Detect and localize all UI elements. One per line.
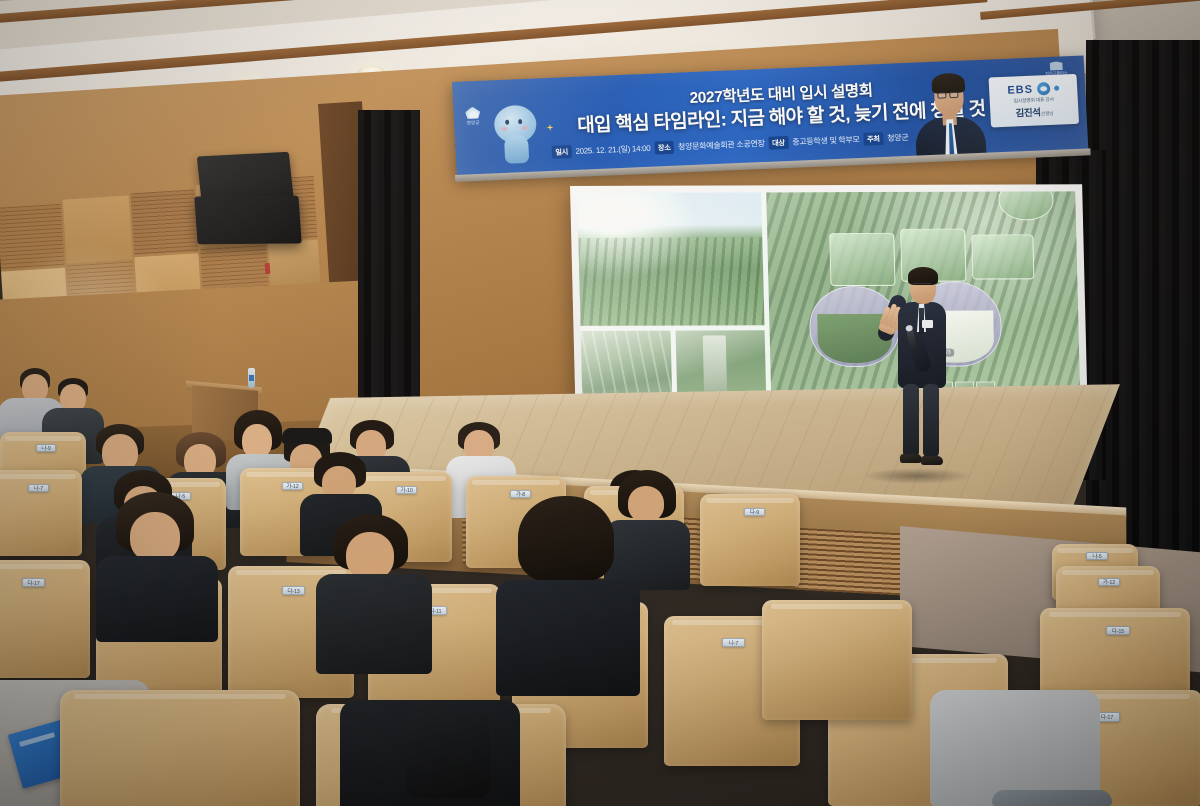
partner-logo-icon: [1049, 61, 1062, 71]
partner-logo: 청양군플러스: [1032, 58, 1081, 80]
seat-number-plate: 다-17: [22, 578, 45, 587]
seat-number-plate: 가-10: [396, 486, 417, 494]
projection-screen: 2/3: [570, 184, 1087, 404]
presentation-slide: 2/3: [577, 191, 1080, 397]
presenter-legs: [903, 384, 941, 462]
attendee: [992, 790, 1112, 806]
county-logo-label: 청양군: [466, 119, 479, 126]
seat-number-plate: 나-9: [36, 444, 56, 452]
presenter-name-badge: [922, 320, 933, 328]
county-emblem-icon: [465, 106, 481, 119]
presenter-glasses-icon: [913, 283, 931, 289]
auditorium-photo: 청양군 2027학년도 대비 입시 설명회 대입 핵심 타임라인: 지금 해야 …: [0, 0, 1200, 806]
seat-number-plate: 나-5: [1086, 552, 1108, 560]
seat-number-plate: 다-9: [744, 508, 765, 516]
banner-title: 대입 핵심 타임라인: 지금 해야 할 것, 늦기 전에 챙길 것: [546, 92, 1017, 139]
info-chip-host: 주최: [863, 132, 883, 146]
info-chip-audience: 대상: [768, 136, 788, 150]
slide-photo-garden: [581, 330, 672, 397]
backpack: [406, 712, 490, 798]
partner-logo-label: 청양군플러스: [1045, 70, 1068, 77]
ebs-brand-label: EBS: [1007, 83, 1033, 96]
presenter: [878, 258, 964, 480]
seat-number-plate: 가-12: [1098, 578, 1120, 586]
slide-photo-field: [577, 192, 765, 325]
water-bottle-icon: [248, 368, 255, 388]
ebs-logo-dot-icon: [1054, 86, 1059, 91]
seat-number-plate: 다-13: [282, 586, 305, 595]
info-value-datetime: 2025. 12. 21.(일) 14:00: [575, 143, 651, 157]
info-value-venue: 청양문화예술회관 소공연장: [678, 138, 765, 153]
info-chip-datetime: 일시: [551, 145, 571, 159]
fire-alarm-icon: [265, 263, 271, 274]
seat-number-plate: 나-7: [28, 484, 49, 492]
county-logo: 청양군: [459, 103, 486, 130]
slide-photo-tree: [675, 330, 766, 397]
ebs-logo-icon: [1037, 82, 1051, 96]
attendee: [96, 492, 218, 642]
info-value-audience: 중고등학생 및 학부모: [792, 134, 860, 148]
ceiling-speaker: [194, 196, 302, 245]
seat-number-plate: 다-15: [1106, 626, 1130, 635]
auditorium-seat[interactable]: [60, 690, 300, 806]
speaker-portrait: [910, 60, 989, 159]
info-value-host: 청양군: [887, 132, 909, 144]
auditorium-seat[interactable]: [0, 470, 82, 556]
sparkle-icon: [546, 124, 553, 131]
mascot-character-icon: [489, 98, 542, 166]
stage-curtain-left: [358, 110, 420, 410]
speaker-role: 입시설명회 대표 강사: [1013, 96, 1054, 105]
auditorium-seat[interactable]: [762, 600, 912, 720]
attendee: [930, 690, 1100, 806]
speaker-name-card: EBS 입시설명회 대표 강사 김진석선생님: [989, 74, 1080, 128]
attendee: [316, 514, 432, 674]
attendee: [496, 496, 640, 696]
seat-number-plate: 나-7: [722, 638, 745, 647]
info-chip-venue: 장소: [654, 141, 674, 155]
speaker-name: 김진석선생님: [1015, 104, 1053, 120]
banner-subtitle: 2027학년도 대비 입시 설명회: [601, 75, 962, 112]
